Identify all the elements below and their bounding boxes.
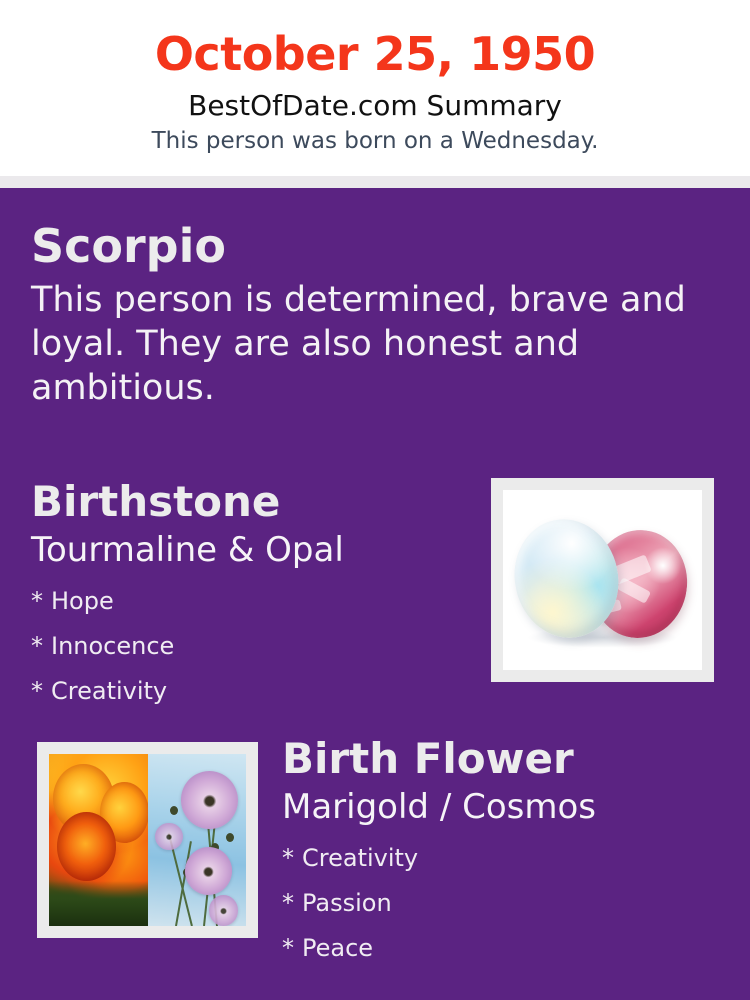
list-item: *Creativity	[282, 836, 722, 881]
birthstone-trait-list: *Hope *Innocence *Creativity	[31, 571, 471, 714]
list-item: *Passion	[282, 881, 722, 926]
birth-flower-names: Marigold / Cosmos	[282, 785, 722, 828]
birthstone-photo	[491, 478, 714, 682]
birth-flower-heading: Birth Flower	[282, 733, 722, 785]
list-item: *Peace	[282, 926, 722, 971]
cosmos-bloom-icon	[177, 767, 242, 833]
birth-flower-trait-label: Passion	[302, 889, 392, 917]
zodiac-sign-name: Scorpio	[31, 218, 703, 274]
birth-flower-trait-label: Creativity	[302, 844, 418, 872]
bullet-star-icon: *	[31, 669, 51, 714]
bullet-star-icon: *	[282, 926, 302, 971]
list-item: *Creativity	[31, 669, 471, 714]
foliage	[49, 881, 148, 926]
marigold-bloom-icon	[57, 812, 116, 881]
weekday-line: This person was born on a Wednesday.	[0, 123, 750, 156]
bestofdate-summary-card: October 25, 1950 BestOfDate.com Summary …	[0, 0, 750, 1000]
header: October 25, 1950 BestOfDate.com Summary …	[0, 0, 750, 176]
flower-bud	[226, 833, 234, 842]
birth-flower-trait-list: *Creativity *Passion *Peace	[282, 828, 722, 971]
birthstone-trait-label: Creativity	[51, 677, 167, 705]
header-divider	[0, 176, 750, 188]
zodiac-section: Scorpio This person is determined, brave…	[31, 218, 703, 410]
zodiac-description: This person is determined, brave and loy…	[31, 274, 691, 410]
bullet-star-icon: *	[282, 836, 302, 881]
birthstone-section: Birthstone Tourmaline & Opal *Hope *Inno…	[31, 476, 471, 714]
birthstone-trait-label: Hope	[51, 587, 114, 615]
birth-flower-photo-inner	[49, 754, 246, 926]
cosmos-bloom-icon	[209, 895, 239, 926]
birthstone-heading: Birthstone	[31, 476, 471, 528]
birthstone-names: Tourmaline & Opal	[31, 528, 471, 571]
page-title-date: October 25, 1950	[0, 0, 750, 82]
list-item: *Hope	[31, 579, 471, 624]
birthstone-photo-inner	[503, 490, 702, 670]
birth-flower-trait-label: Peace	[302, 934, 373, 962]
site-summary-label: BestOfDate.com Summary	[0, 82, 750, 123]
flower-bud	[170, 806, 178, 815]
list-item: *Innocence	[31, 624, 471, 669]
bullet-star-icon: *	[31, 624, 51, 669]
birthstone-trait-label: Innocence	[51, 632, 174, 660]
birth-flower-photo	[37, 742, 258, 938]
cosmos-bloom-icon	[155, 823, 183, 851]
bullet-star-icon: *	[31, 579, 51, 624]
cosmos-photo-half	[148, 754, 247, 926]
marigold-photo-half	[49, 754, 148, 926]
bullet-star-icon: *	[282, 881, 302, 926]
birth-flower-section: Birth Flower Marigold / Cosmos *Creativi…	[282, 733, 722, 971]
